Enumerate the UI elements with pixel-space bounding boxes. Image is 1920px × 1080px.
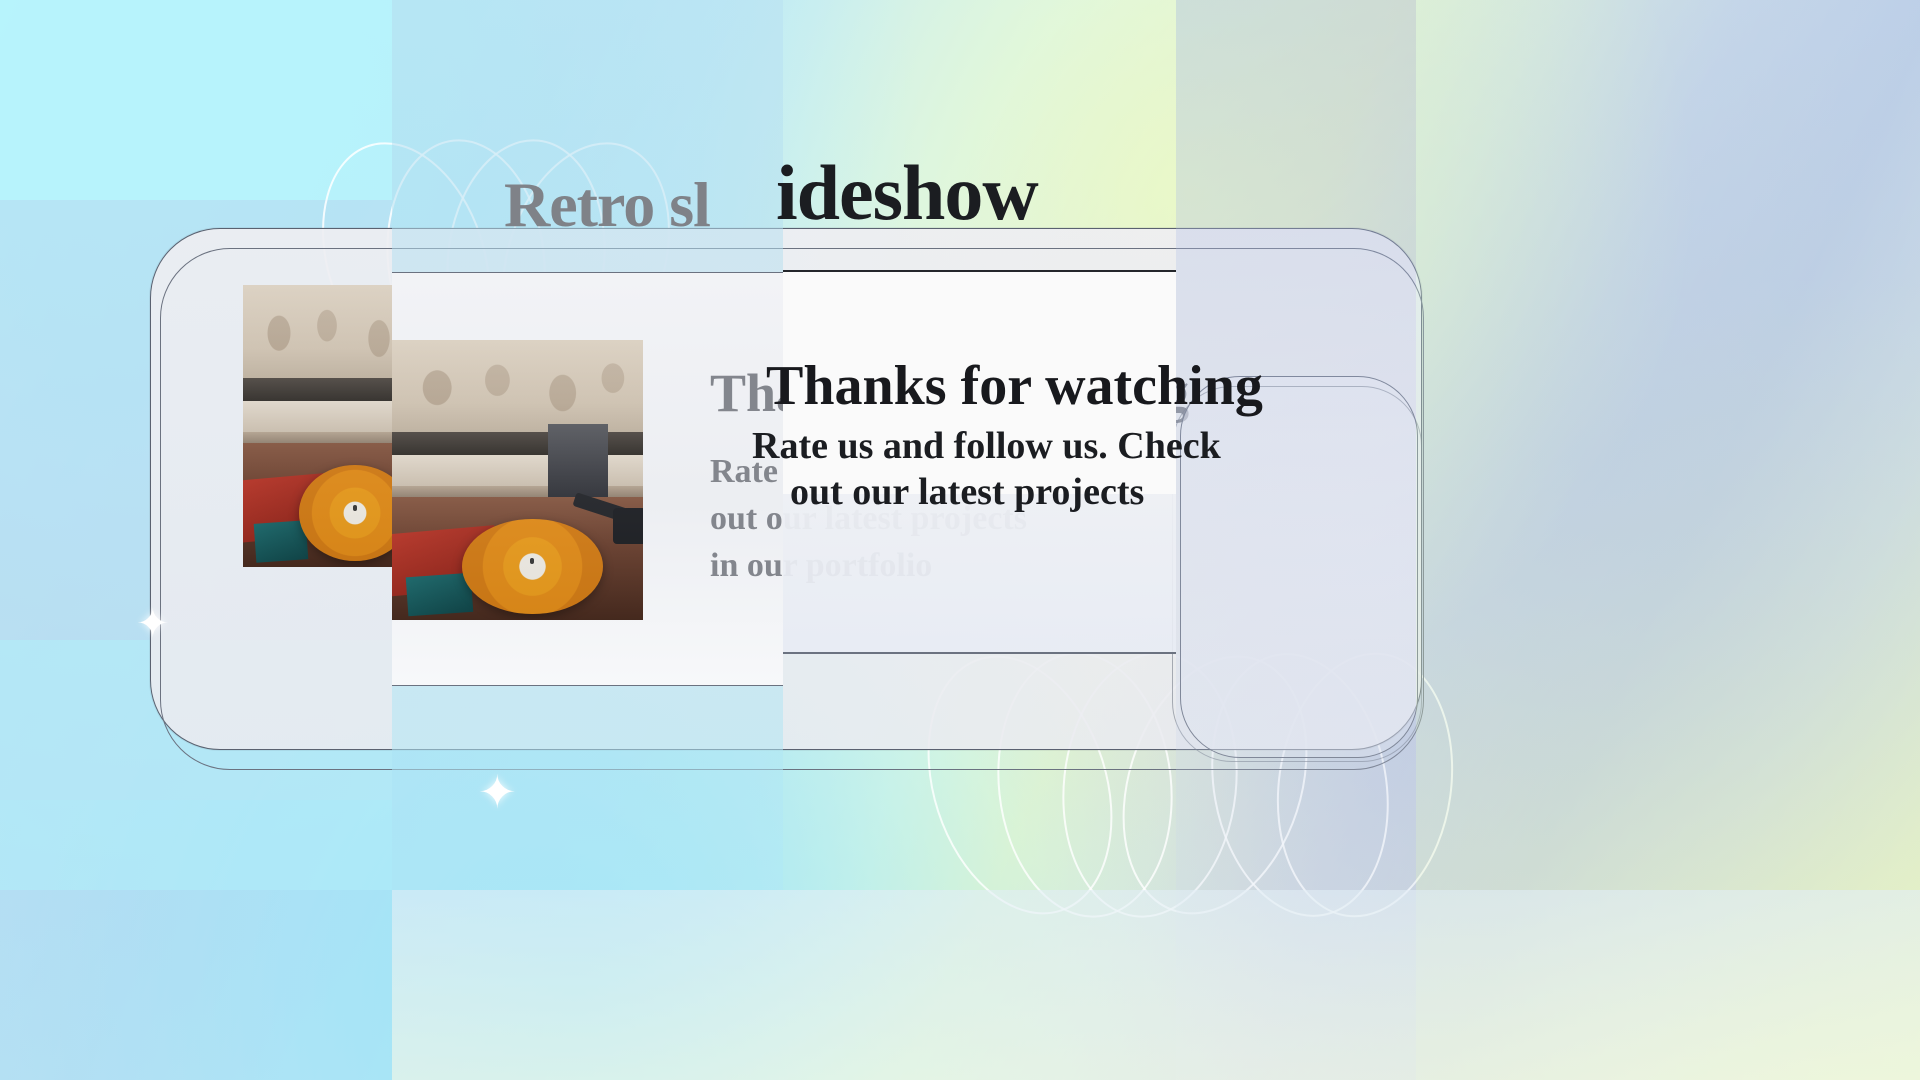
foreground-slide-body-line2: out our latest projects <box>790 470 1144 514</box>
slide-title-front-fragment: ideshow <box>776 148 1038 238</box>
background-band-top <box>0 0 392 200</box>
foreground-slide-body-line1: Rate us and follow us. Check <box>752 424 1221 468</box>
photo-shading-overlay <box>392 340 643 620</box>
bottom-edge-band <box>392 890 1920 1080</box>
middle-slide-photo <box>392 340 643 620</box>
foreground-slide-lower-panel <box>783 494 1176 652</box>
sparkle-star-icon: ✦ <box>478 770 517 816</box>
foreground-slide-heading: Thanks for watching <box>766 354 1263 418</box>
sparkle-star-icon: ✦ <box>136 604 170 644</box>
foreground-slide-bottom-rule <box>783 652 1176 654</box>
slideshow-canvas: Thanks for watching Rate us and follow u… <box>0 0 1920 1080</box>
slide-title-back-fragment: Retro sl <box>504 168 710 242</box>
